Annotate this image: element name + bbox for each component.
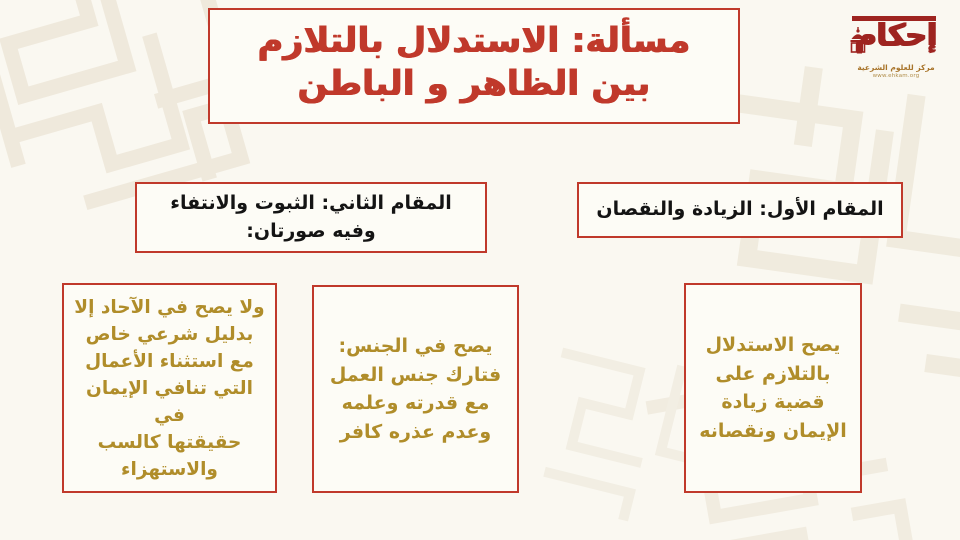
- detail-card-text: يصح الاستدلال بالتلازم على قضية زيادة ال…: [699, 331, 847, 445]
- header-card-maqam-second: المقام الثاني: الثبوت والانتفاء وفيه صور…: [135, 182, 487, 253]
- logo-subtitle: مركز للعلوم الشرعية: [844, 63, 948, 72]
- detail-card-jins: يصح في الجنس: فتارك جنس العمل مع قدرته و…: [312, 285, 519, 493]
- detail-card-ahad: ولا يصح في الآحاد إلا بدليل شرعي خاص مع …: [62, 283, 277, 493]
- logo-url: www.ehkam.org: [844, 73, 948, 79]
- detail-card-ziyadah-nuqsan: يصح الاستدلال بالتلازم على قضية زيادة ال…: [684, 283, 862, 493]
- mosque-dome-icon: [848, 26, 868, 54]
- detail-card-text: ولا يصح في الآحاد إلا بدليل شرعي خاص مع …: [73, 294, 266, 483]
- logo-mark: إحكام: [846, 14, 946, 62]
- page-title: مسألة: الاستدلال بالتلازم بين الظاهر و ا…: [224, 20, 724, 105]
- header-card-maqam-first: المقام الأول: الزيادة والنقصان: [577, 182, 903, 238]
- logo-top-bar: [852, 16, 936, 21]
- slide-canvas: مسألة: الاستدلال بالتلازم بين الظاهر و ا…: [0, 0, 960, 540]
- header-card-label: المقام الأول: الزيادة والنقصان: [596, 196, 883, 224]
- detail-card-text: يصح في الجنس: فتارك جنس العمل مع قدرته و…: [330, 332, 501, 446]
- header-card-label: المقام الثاني: الثبوت والانتفاء وفيه صور…: [149, 190, 473, 245]
- brand-logo: إحكام مركز للعلوم الشرعية www.ehkam.org: [844, 14, 948, 88]
- slide-title-box: مسألة: الاستدلال بالتلازم بين الظاهر و ا…: [208, 8, 740, 124]
